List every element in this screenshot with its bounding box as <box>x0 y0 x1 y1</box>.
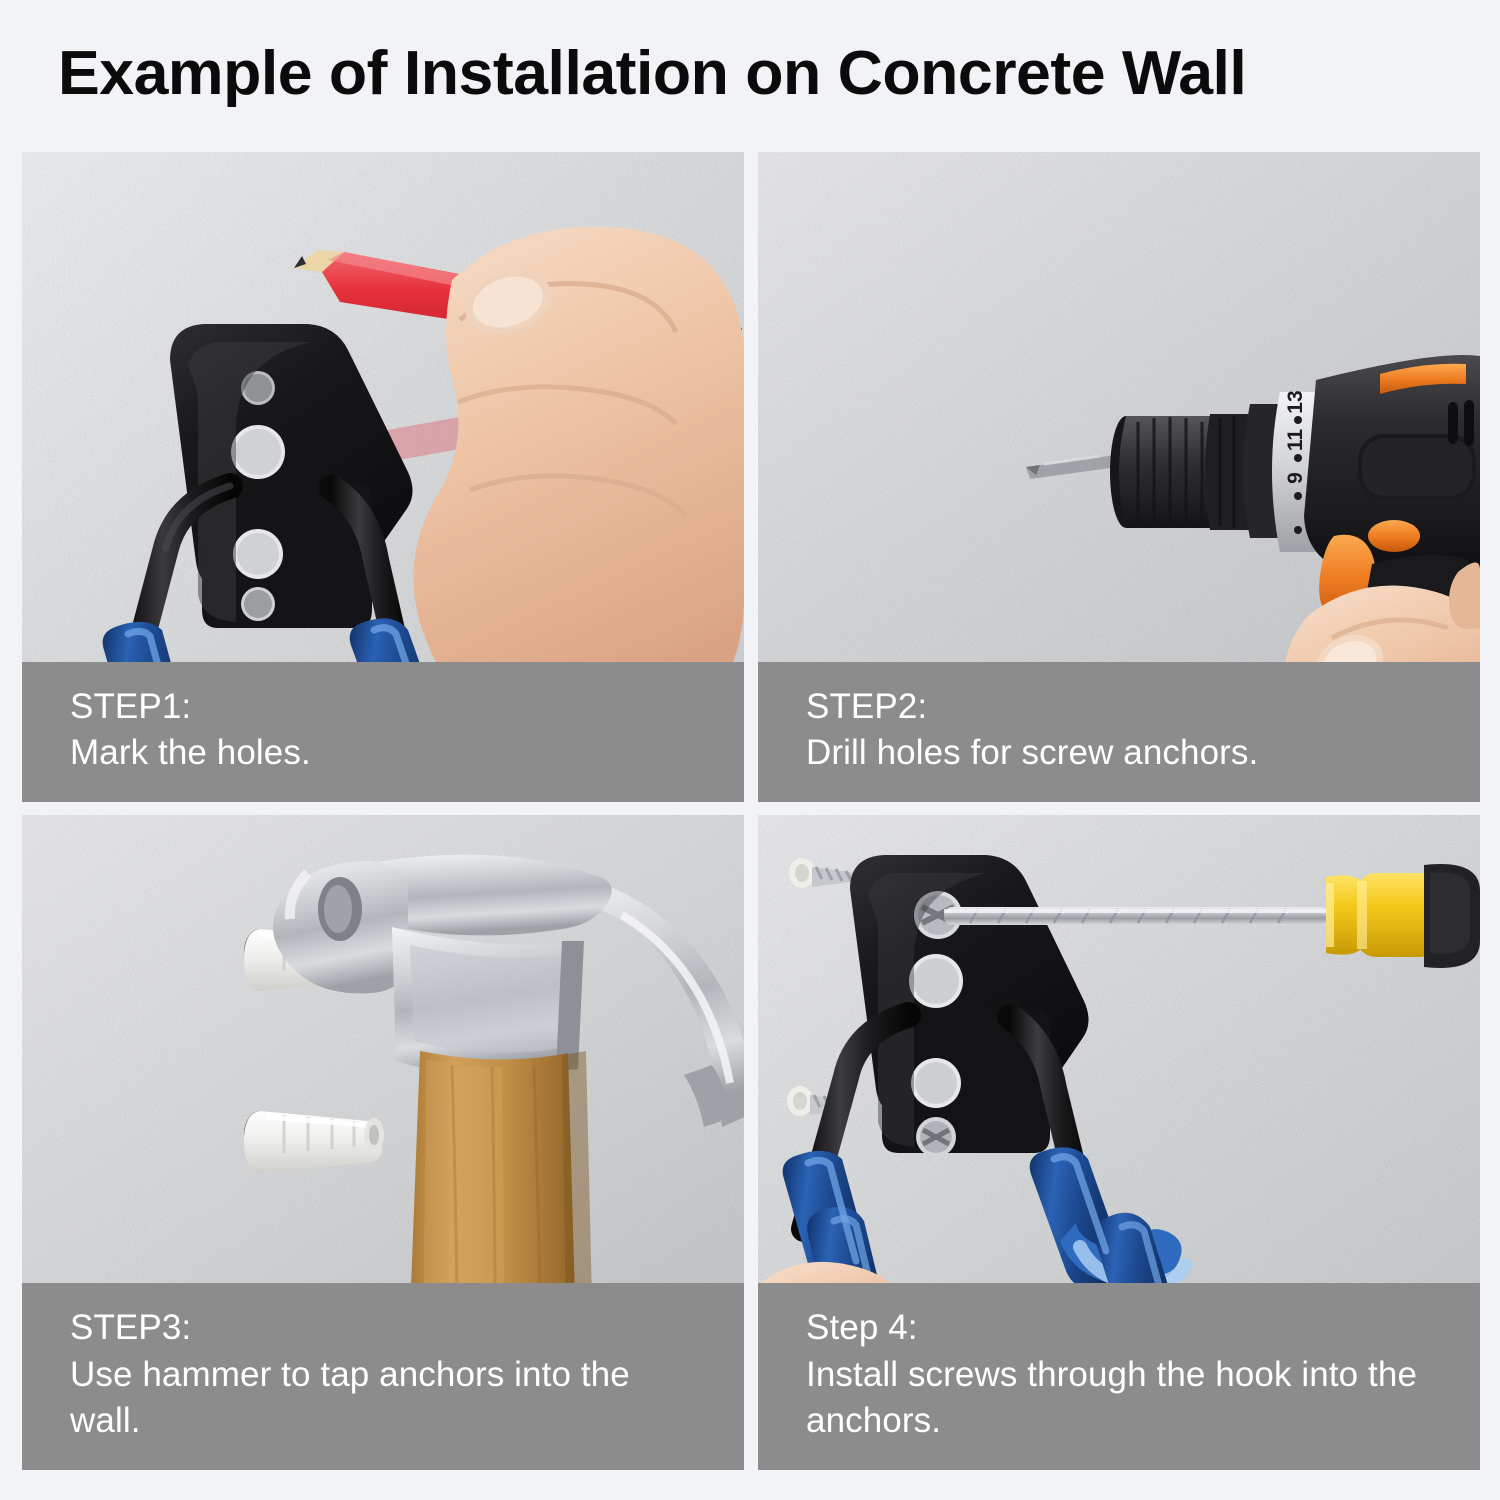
step2-description: Drill holes for screw anchors. <box>806 730 1432 776</box>
step2-caption: STEP2: Drill holes for screw anchors. <box>758 662 1480 802</box>
step-panel-4: Step 4: Install screws through the hook … <box>758 815 1480 1470</box>
step2-label: STEP2: <box>806 684 1432 730</box>
drill-clutch-number-9: 9 <box>1284 472 1307 484</box>
step-panel-2: 13 11 9 <box>758 152 1480 802</box>
step3-label: STEP3: <box>70 1305 696 1351</box>
step4-label: Step 4: <box>806 1305 1432 1351</box>
step4-description: Install screws through the hook into the… <box>806 1352 1432 1444</box>
step4-caption: Step 4: Install screws through the hook … <box>758 1283 1480 1470</box>
step1-caption: STEP1: Mark the holes. <box>22 662 744 802</box>
page-title: Example of Installation on Concrete Wall <box>58 34 1472 114</box>
drill-clutch-number-11: 11 <box>1284 429 1307 452</box>
step-panel-1: STEP1: Mark the holes. <box>22 152 744 802</box>
step3-description: Use hammer to tap anchors into the wall. <box>70 1352 696 1444</box>
steps-grid: STEP1: Mark the holes. <box>22 152 1480 1470</box>
step-panel-3: STEP3: Use hammer to tap anchors into th… <box>22 815 744 1470</box>
installed-screw-bottom <box>916 1117 956 1157</box>
drill-clutch-number-13: 13 <box>1284 390 1307 413</box>
step1-label: STEP1: <box>70 684 696 730</box>
step3-caption: STEP3: Use hammer to tap anchors into th… <box>22 1283 744 1470</box>
step1-description: Mark the holes. <box>70 730 696 776</box>
